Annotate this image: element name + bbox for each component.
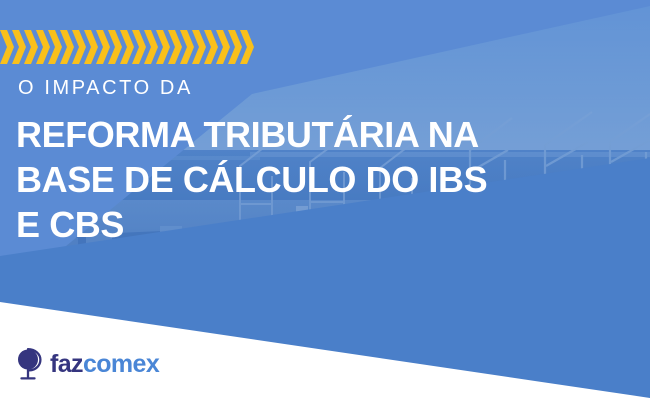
headline-line-1: REFORMA TRIBUTÁRIA NA: [16, 112, 616, 157]
headline-line-2: BASE DE CÁLCULO DO IBS: [16, 157, 616, 202]
globe-icon: [14, 346, 48, 382]
fazcomex-logo[interactable]: fazcomex: [14, 344, 159, 384]
logo-wordmark: fazcomex: [50, 352, 159, 377]
page-title: REFORMA TRIBUTÁRIA NA BASE DE CÁLCULO DO…: [16, 112, 616, 247]
logo-text-faz: faz: [50, 350, 83, 378]
headline-line-3: E CBS: [16, 202, 616, 247]
logo-text-comex: comex: [83, 350, 159, 378]
eyebrow-text: O IMPACTO DA: [18, 78, 193, 98]
chevron-arrows-decoration: [0, 30, 270, 64]
banner: O IMPACTO DA REFORMA TRIBUTÁRIA NA BASE …: [0, 0, 650, 400]
